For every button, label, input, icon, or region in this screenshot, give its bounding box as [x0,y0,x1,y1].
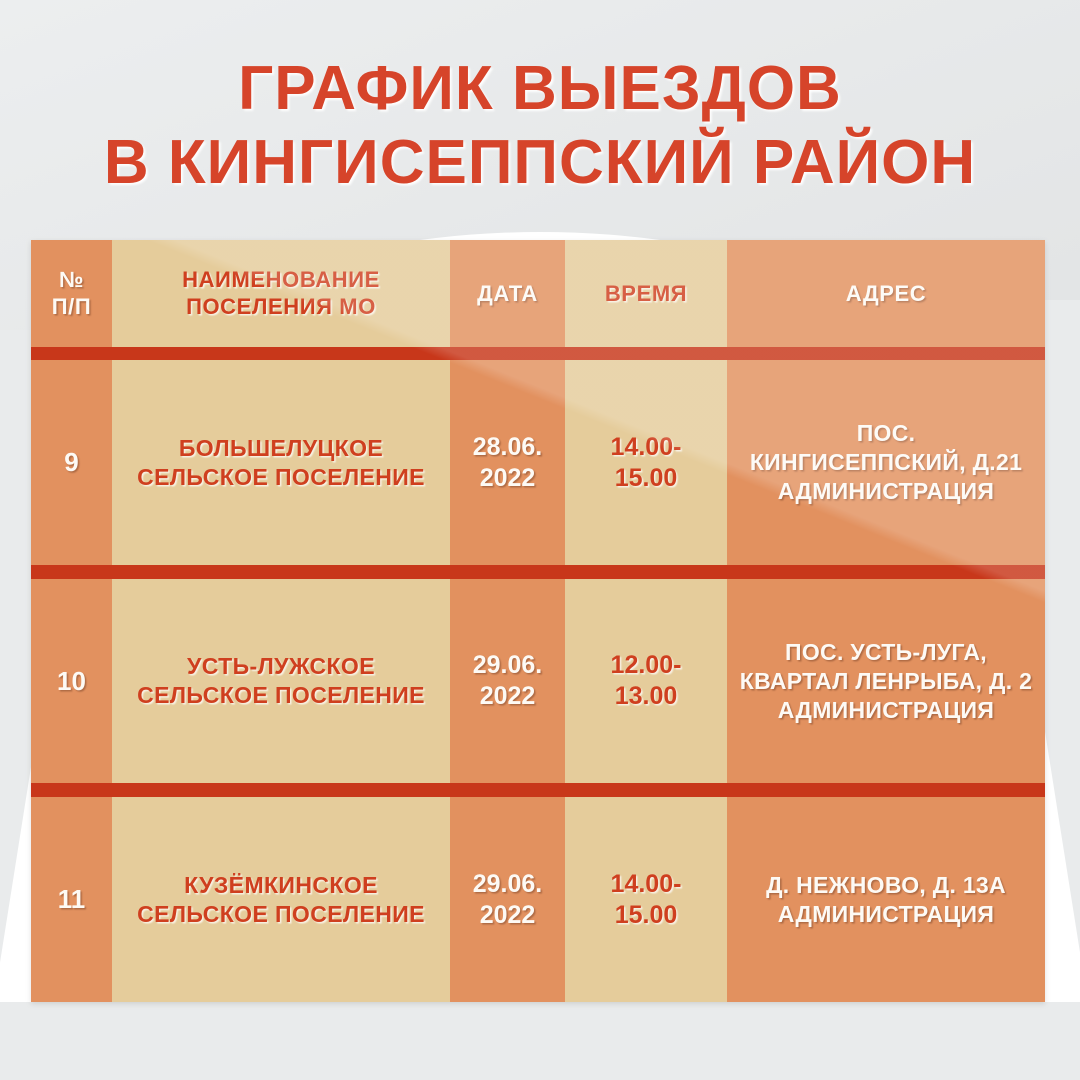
table-row: 10 УСТЬ-ЛУЖСКОЕ СЕЛЬСКОЕ ПОСЕЛЕНИЕ 29.06… [31,579,1045,784]
row-date-line1: 29.06. [450,650,565,681]
row-time: 12.00- 13.00 [565,579,727,784]
row-settlement-line1: КУЗЁМКИНСКОЕ [112,871,450,900]
row-address-line3: АДМИНИСТРАЦИЯ [733,477,1039,506]
row-separator-bar [31,347,1045,361]
row-date-line2: 2022 [450,900,565,931]
row-date: 29.06. 2022 [450,579,565,784]
row-date-line1: 28.06. [450,432,565,463]
row-address: ПОС. УСТЬ-ЛУГА, КВАРТАЛ ЛЕНРЫБА, Д. 2 АД… [727,579,1045,784]
row-separator-2 [31,565,1045,579]
row-separator-bar [31,783,1045,797]
schedule-table: № П/П НАИМЕНОВАНИЕ ПОСЕЛЕНИЯ МО ДАТА ВРЕ… [31,240,1045,1002]
row-address-line2: АДМИНИСТРАЦИЯ [733,900,1039,929]
row-settlement-line1: УСТЬ-ЛУЖСКОЕ [112,652,450,681]
row-time-line2: 15.00 [565,463,727,494]
row-address-line1: ПОС. УСТЬ-ЛУГА, [733,638,1039,667]
row-number: 11 [31,797,112,1002]
row-date-line2: 2022 [450,681,565,712]
row-address-line1: ПОС. [733,419,1039,448]
row-date: 29.06. 2022 [450,797,565,1002]
row-time: 14.00- 15.00 [565,797,727,1002]
table-row: 11 КУЗЁМКИНСКОЕ СЕЛЬСКОЕ ПОСЕЛЕНИЕ 29.06… [31,797,1045,1002]
row-separator-bar [31,565,1045,579]
row-address: ПОС. КИНГИСЕППСКИЙ, Д.21 АДМИНИСТРАЦИЯ [727,360,1045,565]
row-number: 10 [31,579,112,784]
column-header-settlement-line2: ПОСЕЛЕНИЯ МО [112,293,450,320]
row-date-line2: 2022 [450,463,565,494]
row-address: Д. НЕЖНОВО, Д. 13А АДМИНИСТРАЦИЯ [727,797,1045,1002]
row-address-line2: КИНГИСЕППСКИЙ, Д.21 [733,448,1039,477]
column-header-time: ВРЕМЯ [565,240,727,347]
row-address-line1: Д. НЕЖНОВО, Д. 13А [733,871,1039,900]
row-time: 14.00- 15.00 [565,360,727,565]
row-address-line2: КВАРТАЛ ЛЕНРЫБА, Д. 2 [733,667,1039,696]
row-separator-3 [31,783,1045,797]
row-time-line1: 14.00- [565,432,727,463]
row-settlement-line1: БОЛЬШЕЛУЦКОЕ [112,434,450,463]
row-settlement-line2: СЕЛЬСКОЕ ПОСЕЛЕНИЕ [112,463,450,492]
row-time-line1: 12.00- [565,650,727,681]
page-title: ГРАФИК ВЫЕЗДОВ В КИНГИСЕППСКИЙ РАЙОН [0,52,1080,200]
column-header-settlement: НАИМЕНОВАНИЕ ПОСЕЛЕНИЯ МО [112,240,450,347]
title-line-2: В КИНГИСЕППСКИЙ РАЙОН [0,126,1080,200]
row-date: 28.06. 2022 [450,360,565,565]
row-number: 9 [31,360,112,565]
schedule-table-grid: № П/П НАИМЕНОВАНИЕ ПОСЕЛЕНИЯ МО ДАТА ВРЕ… [31,240,1045,1002]
row-time-line2: 13.00 [565,681,727,712]
column-header-date: ДАТА [450,240,565,347]
row-settlement-line2: СЕЛЬСКОЕ ПОСЕЛЕНИЕ [112,681,450,710]
row-address-line3: АДМИНИСТРАЦИЯ [733,696,1039,725]
column-header-number-line1: № [31,266,112,293]
row-settlement: БОЛЬШЕЛУЦКОЕ СЕЛЬСКОЕ ПОСЕЛЕНИЕ [112,360,450,565]
column-header-number-line2: П/П [31,293,112,320]
row-separator-1 [31,347,1045,361]
table-row: 9 БОЛЬШЕЛУЦКОЕ СЕЛЬСКОЕ ПОСЕЛЕНИЕ 28.06.… [31,360,1045,565]
column-header-settlement-line1: НАИМЕНОВАНИЕ [112,266,450,293]
row-date-line1: 29.06. [450,869,565,900]
background-bottom-band [0,1002,1080,1080]
row-settlement: КУЗЁМКИНСКОЕ СЕЛЬСКОЕ ПОСЕЛЕНИЕ [112,797,450,1002]
title-line-1: ГРАФИК ВЫЕЗДОВ [0,52,1080,126]
row-time-line2: 15.00 [565,900,727,931]
row-time-line1: 14.00- [565,869,727,900]
table-header-row: № П/П НАИМЕНОВАНИЕ ПОСЕЛЕНИЯ МО ДАТА ВРЕ… [31,240,1045,347]
column-header-address: АДРЕС [727,240,1045,347]
row-settlement-line2: СЕЛЬСКОЕ ПОСЕЛЕНИЕ [112,900,450,929]
row-settlement: УСТЬ-ЛУЖСКОЕ СЕЛЬСКОЕ ПОСЕЛЕНИЕ [112,579,450,784]
column-header-number: № П/П [31,240,112,347]
